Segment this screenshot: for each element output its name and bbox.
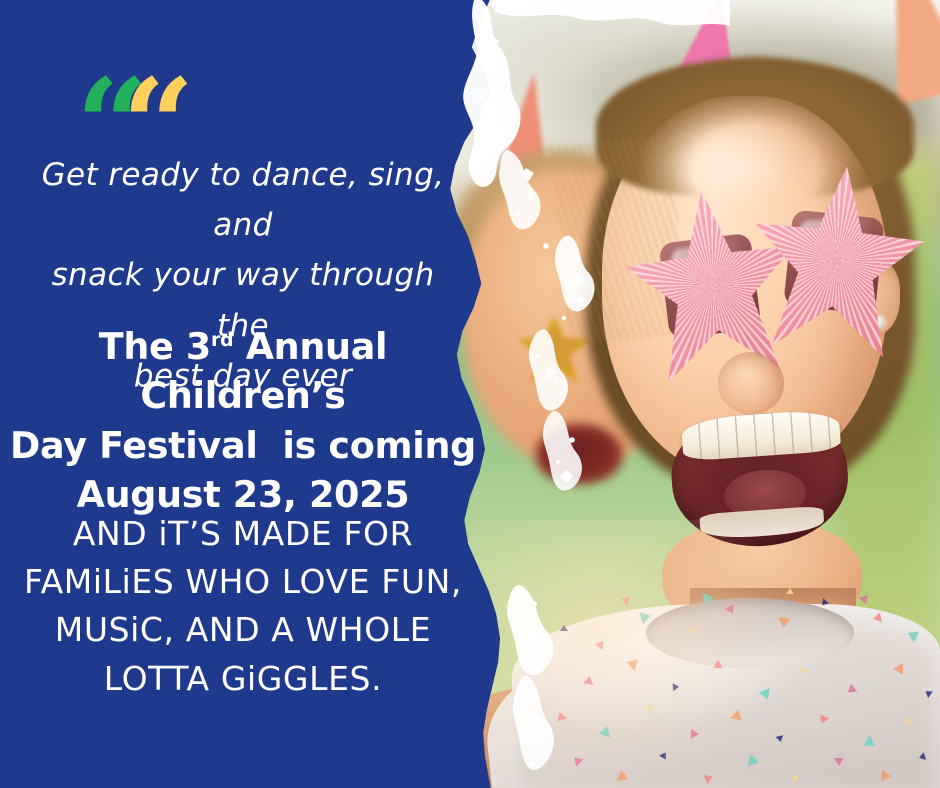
confetti-triangle [691, 729, 700, 740]
confetti-triangle [786, 588, 794, 594]
quote-mark-green-icon: “ [76, 78, 118, 140]
pink-star-sunglasses [628, 166, 918, 384]
script-line-1: Get ready to dance, sing, and [24, 150, 462, 250]
confetti-triangle [872, 612, 882, 623]
headline-ordinal-suffix: rd [211, 329, 233, 351]
sweatshirt-collar [646, 598, 854, 668]
star-frame-left [617, 180, 809, 389]
quote-mark-yellow-icon: “ [122, 78, 164, 140]
quote-mark-group: “ “ [76, 78, 176, 144]
confetti-triangle [583, 675, 594, 685]
confetti-triangle [893, 663, 903, 675]
confetti-triangle [904, 717, 911, 726]
confetti-triangle [560, 625, 568, 631]
subhead-line-1: AND iT’S MADE FOR [14, 510, 472, 558]
confetti-triangle [834, 758, 844, 766]
second-child-mouth [536, 424, 622, 484]
headline-rest: Annual Children’s Day Festival is coming… [10, 325, 476, 516]
subheadline: AND iT’S MADE FOR FAMiLiES WHO LOVE FUN,… [14, 510, 472, 703]
promo-poster: “ “ Get ready to dance, sing, and snack … [0, 0, 940, 788]
subhead-line-2: FAMiLiES WHO LOVE FUN, [14, 558, 472, 606]
text-column: “ “ Get ready to dance, sing, and snack … [0, 0, 486, 788]
confetti-triangle [778, 617, 791, 628]
girl-nose [718, 352, 784, 414]
headline: The 3rd Annual Children’s Day Festival i… [10, 322, 476, 519]
subhead-line-4: LOTTA GiGGLES. [14, 655, 472, 703]
confetti-triangle [615, 769, 628, 780]
confetti-triangle [673, 683, 680, 692]
headline-prefix: The 3 [99, 325, 211, 368]
subhead-line-3: MUSiC, AND A WHOLE [14, 606, 472, 654]
